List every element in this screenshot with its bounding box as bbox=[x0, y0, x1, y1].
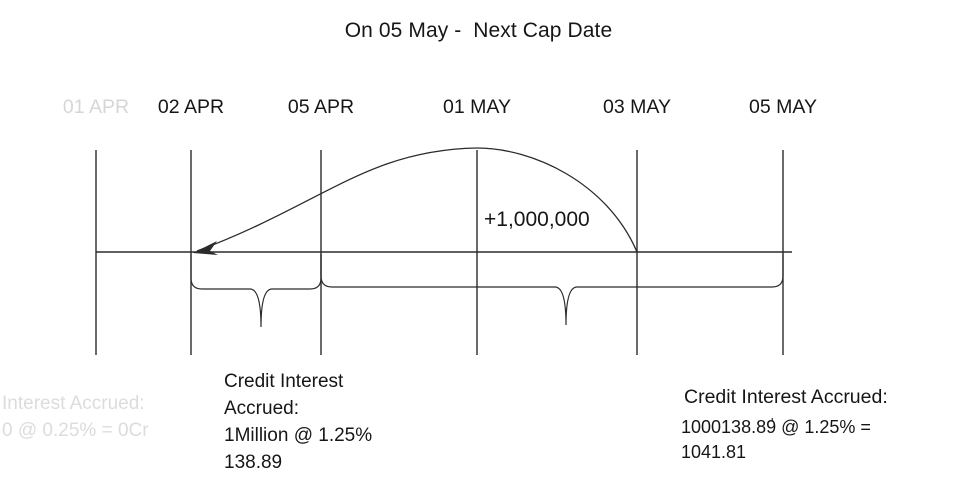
flow-arc-path bbox=[197, 148, 637, 252]
funds-flow-arrow bbox=[193, 148, 637, 255]
note-credit-interest-accrued-05may-body: 1000138.89 @ 1.25% = 1041.81 bbox=[681, 415, 957, 465]
note-tick-mark: ' bbox=[771, 415, 773, 430]
period-braces bbox=[191, 254, 783, 327]
date-label-03-may: 03 MAY bbox=[577, 96, 697, 119]
date-label-01-may: 01 MAY bbox=[417, 96, 537, 119]
date-label-05-apr: 05 APR bbox=[261, 96, 381, 119]
brace-02apr-05apr bbox=[191, 254, 321, 327]
flow-amount-label: +1,000,000 bbox=[484, 208, 590, 232]
date-label-05-may: 05 MAY bbox=[723, 96, 843, 119]
page-title: On 05 May - Next Cap Date bbox=[0, 19, 957, 43]
note-credit-interest-accrued-05may-title: Credit Interest Accrued: bbox=[684, 386, 888, 409]
note-credit-interest-accrued-02apr: Credit Interest Accrued: 1Million @ 1.25… bbox=[224, 368, 434, 476]
note-interest-accrued-01apr: Interest Accrued: 0 @ 0.25% = 0Cr bbox=[2, 390, 212, 444]
flow-arrowhead-icon bbox=[193, 241, 218, 255]
timeline-marker-lines bbox=[96, 150, 783, 355]
brace-05apr-05may bbox=[321, 254, 783, 325]
diagram-canvas: On 05 May - Next Cap Date 01 APR02 APR05… bbox=[0, 0, 957, 502]
date-label-02-apr: 02 APR bbox=[131, 96, 251, 119]
